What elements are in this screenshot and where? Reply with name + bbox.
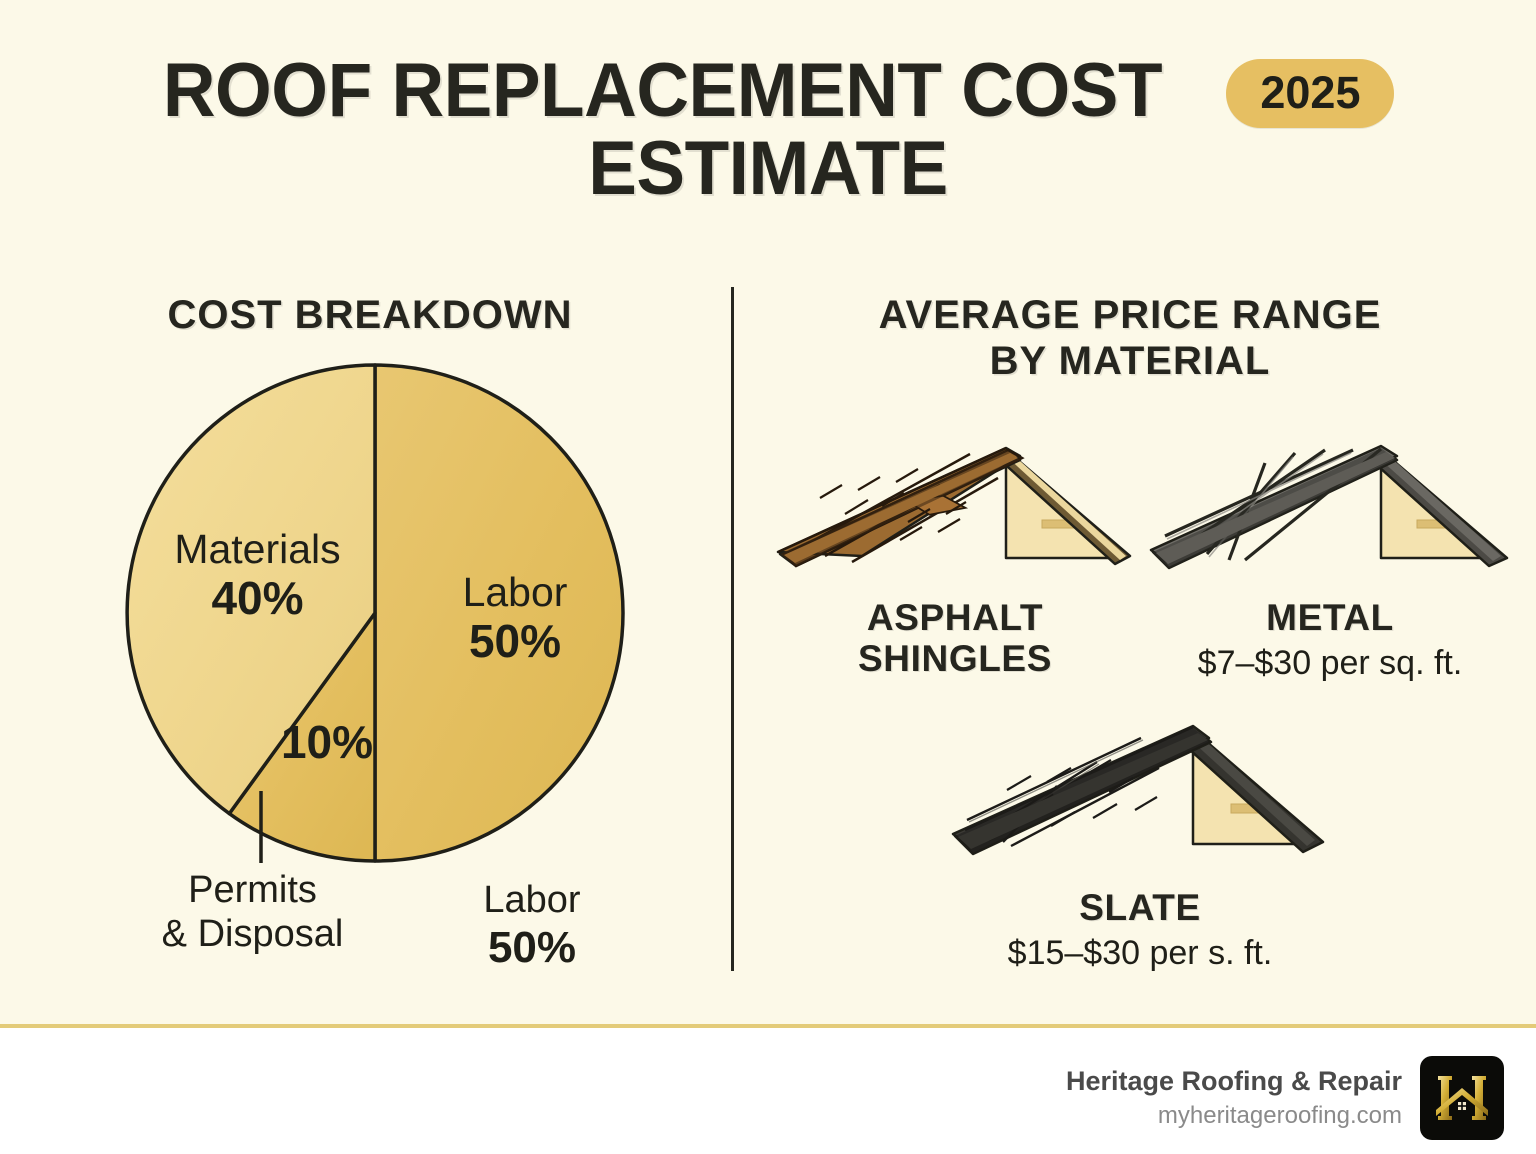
- brand-name: Heritage Roofing & Repair: [1066, 1065, 1402, 1099]
- material-card-asphalt-shingles: ASPHALT SHINGLES: [760, 436, 1150, 679]
- panel-divider: [731, 287, 734, 971]
- price-range-heading-line-1: AVERAGE PRICE RANGE: [770, 292, 1490, 338]
- year-badge: 2025: [1226, 59, 1394, 128]
- metal-roof-icon: [1145, 436, 1515, 586]
- page-title-line-1: ROOF REPLACEMENT COST: [162, 52, 1161, 130]
- material-price-slate: $15–$30 per s. ft.: [945, 933, 1335, 974]
- poster-header: ROOF REPLACEMENT COST 2025 ESTIMATE: [0, 52, 1536, 207]
- infographic-poster: ROOF REPLACEMENT COST 2025 ESTIMATE COST…: [0, 0, 1536, 1154]
- cost-breakdown-heading: COST BREAKDOWN: [40, 292, 700, 338]
- permits-callout-line-2: & Disposal: [115, 912, 390, 956]
- brand-website[interactable]: myheritageroofing.com: [1066, 1100, 1402, 1131]
- pie-slice-labor: [375, 365, 623, 861]
- material-name-asphalt-line-2: SHINGLES: [760, 639, 1150, 680]
- material-name-asphalt-line-1: ASPHALT: [760, 598, 1150, 639]
- material-name-slate: SLATE: [945, 888, 1335, 929]
- labor-caption: Labor 50%: [412, 878, 652, 973]
- labor-caption-value: 50%: [412, 922, 652, 973]
- permits-disposal-callout: Permits & Disposal: [115, 868, 390, 956]
- footer-text: Heritage Roofing & Repair myheritageroof…: [1066, 1065, 1402, 1132]
- heritage-h-roof-logo-icon: [1420, 1056, 1504, 1140]
- slate-roof-icon: [945, 716, 1335, 876]
- cost-breakdown-pie-chart: [124, 363, 626, 863]
- price-range-heading-line-2: BY MATERIAL: [770, 338, 1490, 384]
- footer-brand-block: Heritage Roofing & Repair myheritageroof…: [1066, 1056, 1504, 1140]
- page-title-line-2: ESTIMATE: [31, 130, 1506, 208]
- footer: Heritage Roofing & Repair myheritageroof…: [0, 1028, 1536, 1154]
- material-card-slate: SLATE $15–$30 per s. ft.: [945, 716, 1335, 973]
- price-range-heading: AVERAGE PRICE RANGE BY MATERIAL: [770, 292, 1490, 384]
- labor-caption-name: Labor: [412, 878, 652, 922]
- permits-callout-line-1: Permits: [115, 868, 390, 912]
- asphalt-shingle-roof-icon: [770, 436, 1140, 586]
- material-price-metal: $7–$30 per sq. ft.: [1135, 643, 1525, 684]
- material-name-metal: METAL: [1135, 598, 1525, 639]
- material-card-metal: METAL $7–$30 per sq. ft.: [1135, 436, 1525, 683]
- title-row: ROOF REPLACEMENT COST 2025: [0, 52, 1536, 130]
